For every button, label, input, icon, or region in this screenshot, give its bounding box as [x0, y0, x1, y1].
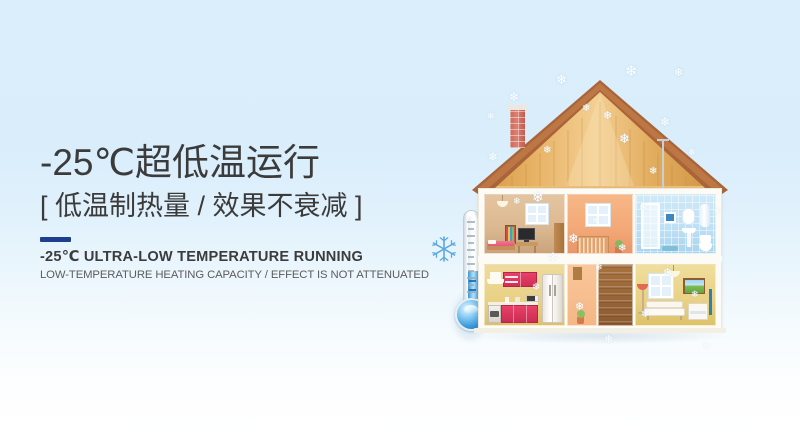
snowflake-icon: ❄	[625, 64, 638, 79]
room-bathroom	[635, 194, 716, 254]
living-sofa-leg-left	[647, 316, 649, 320]
kitchen-range-hood-flue	[487, 279, 504, 284]
staircase-steps	[599, 265, 632, 325]
living-window	[649, 274, 673, 298]
bedroom-pillow	[488, 240, 496, 244]
nursery-plant-pot	[615, 247, 622, 254]
bedroom-desk-leg-2	[534, 246, 536, 253]
hallway-plant-leaves	[577, 310, 585, 318]
kitchen-kettle	[515, 297, 520, 303]
chimney	[510, 108, 525, 148]
kitchen-jar	[505, 297, 509, 303]
kitchen-range-hood	[490, 272, 501, 279]
kitchen-shelf-lower	[505, 281, 518, 283]
living-tv	[709, 289, 712, 315]
house-base	[474, 328, 726, 333]
bathroom-window	[664, 212, 676, 223]
room-bedroom	[484, 194, 565, 254]
kitchen-upper-cabinet-seam	[520, 272, 521, 287]
kitchen-cabinet-seam-b	[526, 305, 527, 323]
living-picture-art	[685, 280, 704, 293]
kitchen-fridge-handle-right	[554, 285, 556, 296]
kitchen-cabinet-seam-a	[513, 305, 514, 323]
living-tv-cabinet-drawer	[690, 311, 706, 314]
headline: -25℃超低温运行	[40, 140, 430, 186]
hallway-door	[573, 267, 582, 280]
kitchen-microwave-door	[527, 296, 535, 301]
living-sofa-leg-right	[680, 316, 682, 320]
bedroom-window	[526, 204, 548, 224]
living-sofa-back	[646, 301, 683, 308]
kitchen-shelf-upper	[505, 276, 518, 278]
bathroom-shower	[641, 203, 660, 249]
room-living	[635, 264, 716, 326]
english-headline: -25℃ ULTRA-LOW TEMPERATURE RUNNING	[40, 248, 430, 267]
kitchen-lower-cabinets	[501, 305, 538, 323]
living-sofa-seat	[644, 308, 685, 316]
marketing-copy-block: -25℃超低温运行 [ 低温制热量 / 效果不衰减 ] -25℃ ULTRA-L…	[40, 140, 430, 283]
bathroom-mirror	[682, 208, 695, 225]
bathroom-sink-pedestal	[687, 233, 691, 247]
kitchen-fridge-handle-left	[549, 285, 551, 296]
room-staircase	[598, 264, 633, 326]
bedroom-lamp-shade	[497, 201, 508, 207]
living-lamp-shade	[667, 271, 680, 277]
kitchen-oven-window	[490, 311, 499, 317]
subheadline: [ 低温制热量 / 效果不衰减 ]	[40, 187, 430, 225]
bathroom-water-heater	[700, 204, 710, 227]
bathroom-toilet-tank	[700, 235, 711, 242]
nursery-crib-bars	[579, 238, 607, 254]
hallway-plant-pot	[577, 317, 584, 324]
bathroom-bathmat	[662, 246, 678, 251]
bedroom-desk-leg	[518, 246, 520, 253]
cutaway-house	[466, 78, 734, 348]
room-nursery	[567, 194, 633, 254]
bookshelf-books	[506, 227, 515, 242]
nursery-plant-leaves	[615, 240, 623, 248]
accent-divider	[40, 237, 71, 242]
chimney-cap	[507, 105, 528, 110]
antenna-crossbar	[657, 139, 669, 141]
room-kitchen	[484, 264, 565, 326]
antenna	[662, 140, 664, 188]
floor-divider	[478, 256, 722, 262]
bedroom-tv	[518, 228, 535, 240]
bedroom-door	[554, 223, 564, 254]
snowflake-icon	[429, 234, 459, 264]
english-subheadline: LOW-TEMPERATURE HEATING CAPACITY / EFFEC…	[40, 267, 430, 283]
room-hallway	[567, 264, 597, 326]
nursery-window	[586, 204, 610, 226]
kitchen-fridge-seam	[552, 274, 553, 323]
promo-banner: -25℃超低温运行 [ 低温制热量 / 效果不衰减 ] -25℃ ULTRA-L…	[0, 0, 800, 433]
